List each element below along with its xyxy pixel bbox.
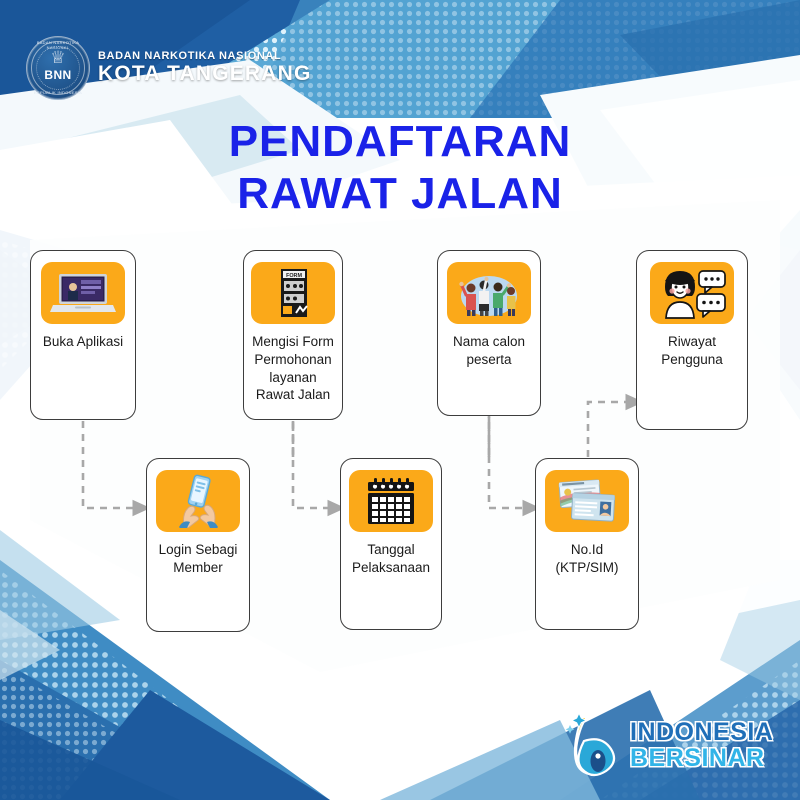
flow-node-no-id[interactable]: No.Id (KTP/SIM) bbox=[535, 458, 639, 630]
person-chat-icon bbox=[650, 262, 734, 324]
flow-node-label: Mengisi Form Permohonan layanan Rawat Ja… bbox=[244, 333, 342, 404]
bersinar-mark-icon bbox=[562, 711, 624, 779]
indonesia-bersinar-logo: INDONESIA BERSINAR bbox=[562, 706, 777, 784]
org-name: BADAN NARKOTIKA NASIONAL KOTA TANGERANG bbox=[98, 51, 312, 85]
org-name-line1: BADAN NARKOTIKA NASIONAL bbox=[98, 51, 312, 62]
flow-node-label: Nama calon peserta bbox=[438, 333, 540, 369]
page-title-line2: RAWAT JALAN bbox=[0, 168, 800, 220]
org-name-line2: KOTA TANGERANG bbox=[98, 63, 312, 84]
svg-text:FORM: FORM bbox=[286, 273, 302, 279]
flow-node-nama-calon-peserta[interactable]: Nama calon peserta bbox=[437, 250, 541, 416]
seal-ring-bottom-text: REPUBLIK INDONESIA bbox=[27, 90, 89, 95]
id-card-icon bbox=[545, 470, 629, 532]
bersinar-line2: BERSINAR bbox=[630, 746, 773, 771]
people-group-icon bbox=[447, 262, 531, 324]
page-title-line1: PENDAFTARAN bbox=[229, 117, 572, 166]
flow-node-label: Buka Aplikasi bbox=[37, 333, 129, 351]
garuda-icon: ♕ bbox=[50, 49, 65, 66]
flow-node-label: Tanggal Pelaksanaan bbox=[341, 541, 441, 577]
flow-node-login-member[interactable]: Login Sebagi Member bbox=[146, 458, 250, 632]
hand-phone-icon bbox=[156, 470, 240, 532]
bnn-logo-block: BADAN NARKOTIKA NASIONAL ♕ BNN REPUBLIK … bbox=[26, 36, 312, 100]
flow-node-label: Riwayat Pengguna bbox=[637, 333, 747, 369]
flow-node-riwayat-pengguna[interactable]: Riwayat Pengguna bbox=[636, 250, 748, 430]
page-title: PENDAFTARAN RAWAT JALAN bbox=[0, 116, 800, 220]
flow-node-buka-aplikasi[interactable]: Buka Aplikasi bbox=[30, 250, 136, 420]
form-document-icon: FORM bbox=[251, 262, 335, 324]
flow-node-tanggal-pelaksanaan[interactable]: Tanggal Pelaksanaan bbox=[340, 458, 442, 630]
flow-node-mengisi-form[interactable]: FORM Mengisi Form Permohonan layanan Raw… bbox=[243, 250, 343, 420]
infographic-canvas: BADAN NARKOTIKA NASIONAL ♕ BNN REPUBLIK … bbox=[0, 0, 800, 800]
bnn-seal-icon: BADAN NARKOTIKA NASIONAL ♕ BNN REPUBLIK … bbox=[26, 36, 90, 100]
bersinar-line1: INDONESIA bbox=[630, 720, 773, 745]
flow-node-label: No.Id (KTP/SIM) bbox=[536, 541, 638, 577]
laptop-icon bbox=[41, 262, 125, 324]
calendar-icon bbox=[349, 470, 433, 532]
bnn-seal-label: BNN bbox=[27, 68, 89, 82]
bersinar-wordmark: INDONESIA BERSINAR bbox=[630, 720, 773, 771]
flow-node-label: Login Sebagi Member bbox=[147, 541, 249, 577]
